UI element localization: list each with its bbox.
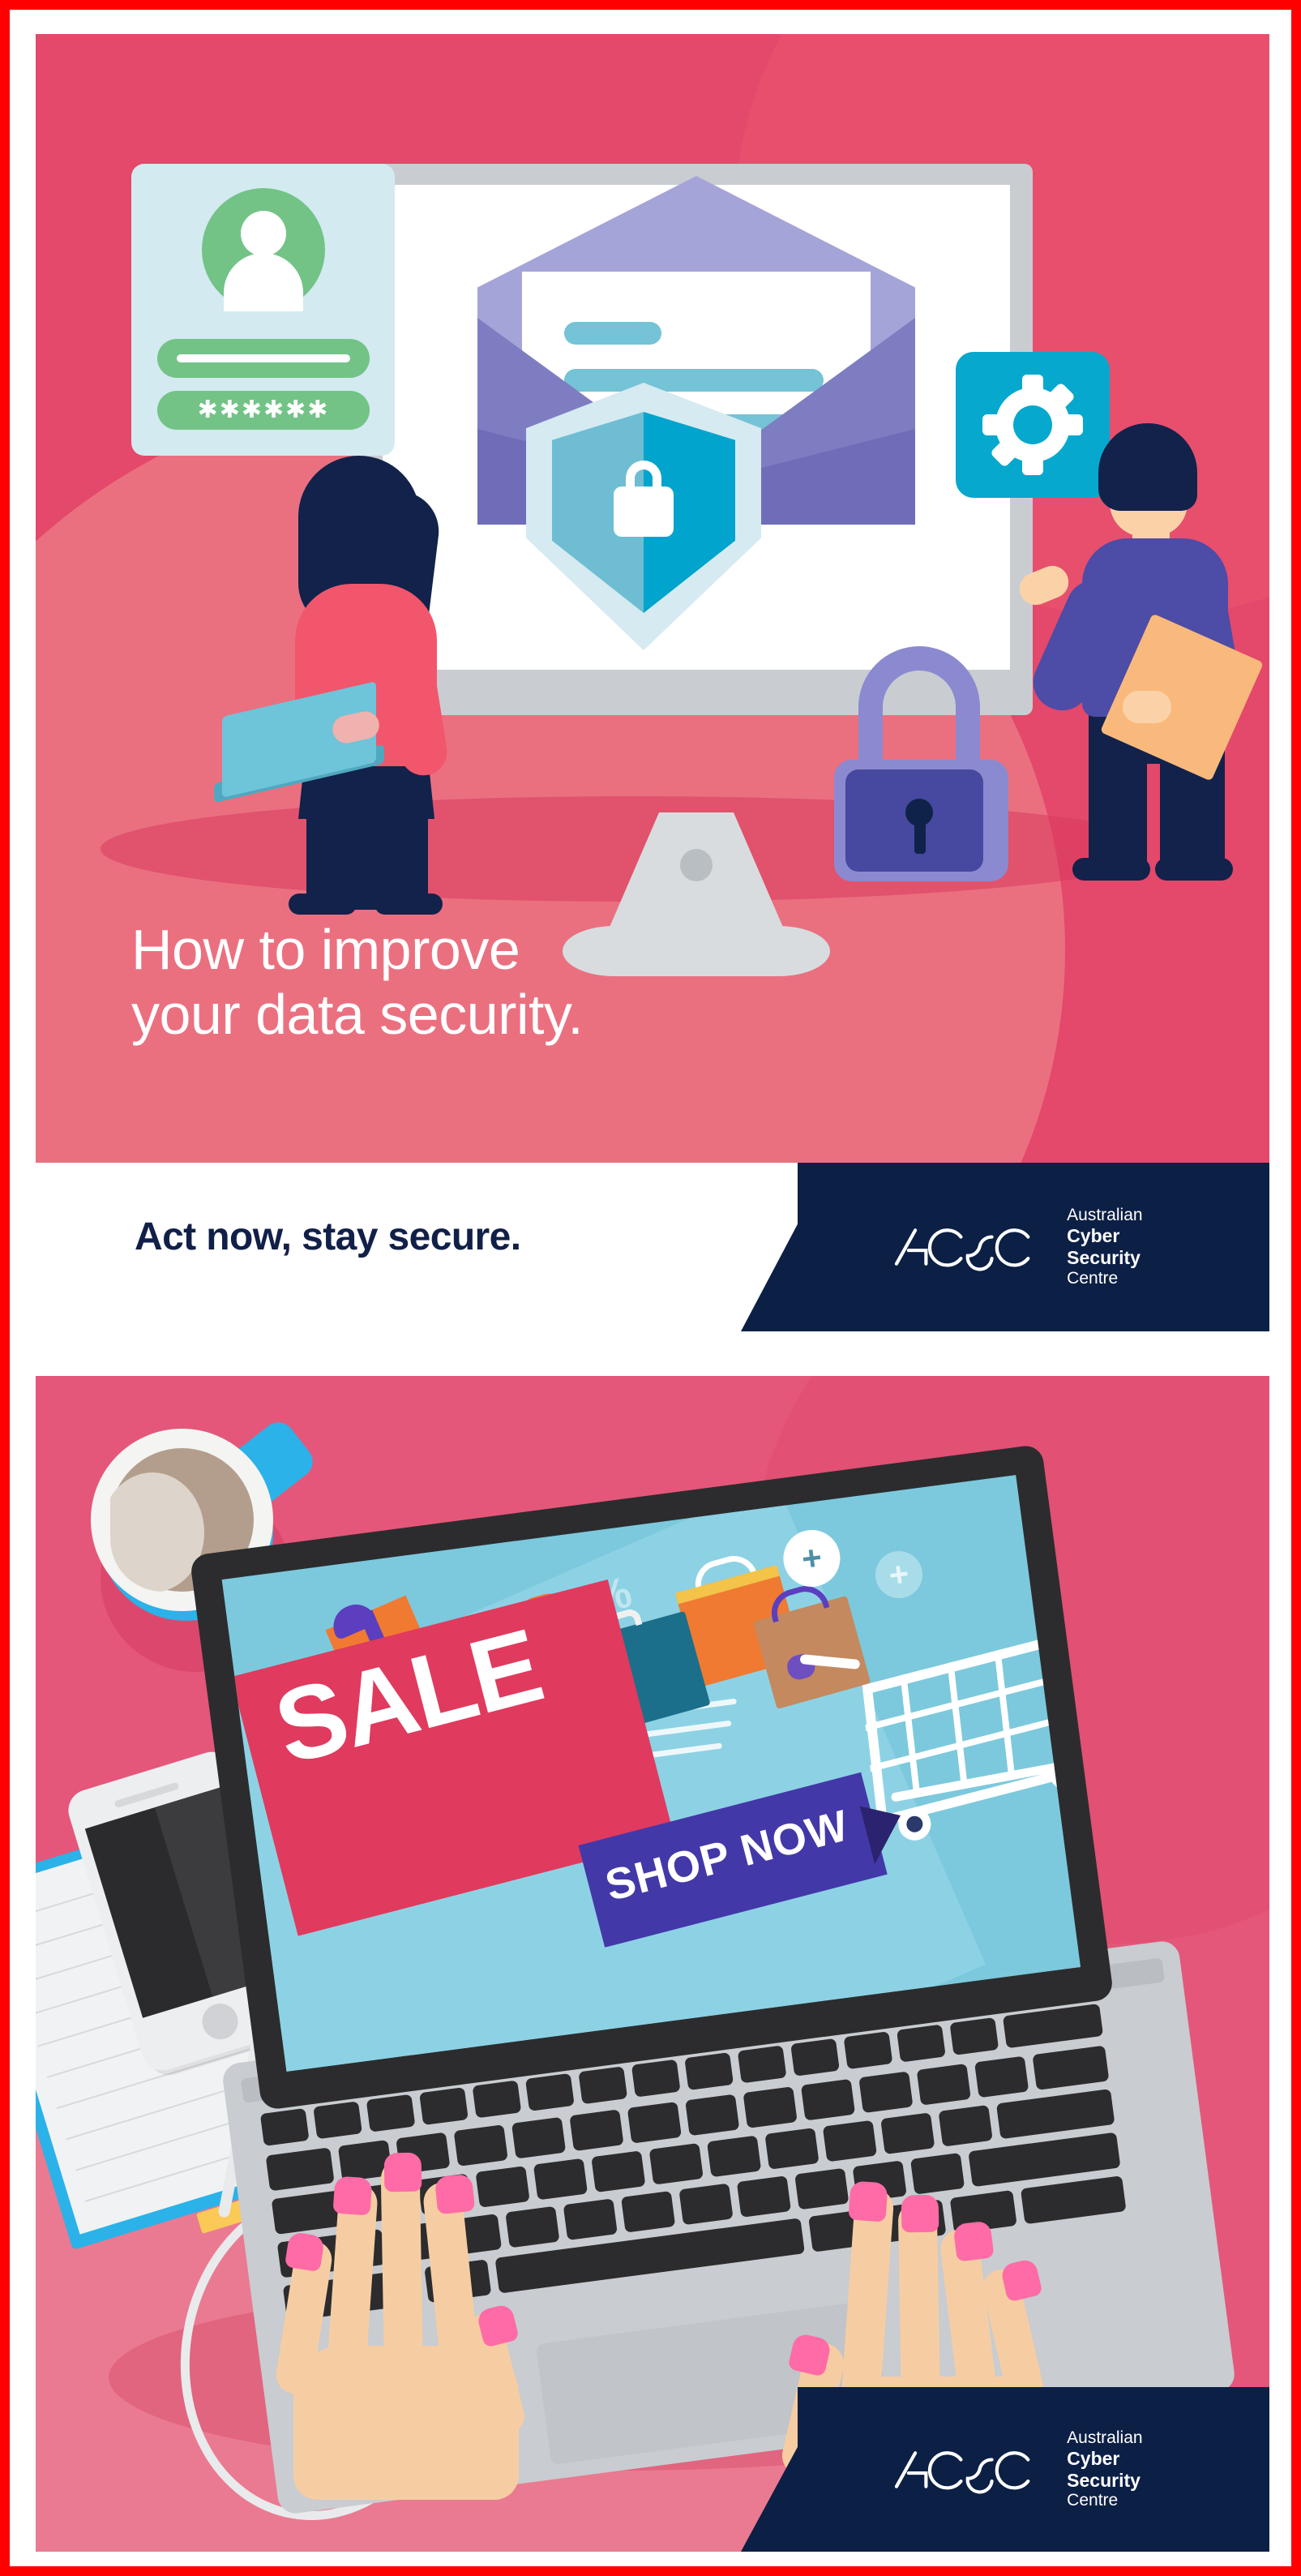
gear-hole: [1013, 405, 1052, 444]
panel-slant-edge: [741, 1163, 830, 1331]
tile-online-shopping[interactable]: % %: [36, 1376, 1269, 2552]
shield-lock-body: [614, 486, 674, 537]
shield-lock-icon: [526, 383, 761, 650]
avatar-head: [241, 211, 286, 256]
man-with-folder-figure: [1053, 423, 1256, 885]
tile1-illustration: ✱✱✱✱✱✱: [36, 34, 1269, 1163]
tile1-tagline-band: Act now, stay secure. Australian: [36, 1163, 1269, 1331]
user-avatar-icon: [202, 188, 325, 311]
left-hand: [271, 2146, 579, 2487]
acsc-logo-mark: [891, 1220, 1052, 1274]
acsc-line-3: Centre: [1067, 1269, 1176, 1288]
acsc-logo-mark: [891, 2443, 1052, 2497]
woman-shoe-right: [374, 894, 443, 915]
password-mask: ✱✱✱✱✱✱: [157, 391, 370, 430]
tile-data-security[interactable]: ✱✱✱✱✱✱: [36, 34, 1269, 1331]
padlock-shackle: [858, 646, 980, 776]
poster-page: ✱✱✱✱✱✱: [0, 0, 1301, 2576]
padlock-icon: [834, 646, 1008, 881]
tile-stack: ✱✱✱✱✱✱: [31, 34, 1271, 2552]
username-placeholder-line: [177, 354, 350, 362]
tile1-tagline: Act now, stay secure.: [135, 1215, 520, 1259]
woman-shoe-left: [289, 894, 357, 915]
acsc-line-2: Cyber Security: [1067, 2448, 1176, 2491]
acsc-line-3: Centre: [1067, 2491, 1176, 2510]
woman-with-laptop-figure: [271, 456, 481, 910]
laptop-lid: % %: [190, 1444, 1115, 2111]
acsc-line-2: Cyber Security: [1067, 1225, 1176, 1268]
acsc-line-1: Australian: [1067, 2428, 1176, 2447]
man-hair: [1098, 423, 1197, 511]
padlock-keyhole-stem: [914, 818, 926, 854]
login-card: ✱✱✱✱✱✱: [131, 164, 395, 456]
acsc-logo-panel-bottom[interactable]: Australian Cyber Security Centre: [798, 2387, 1269, 2552]
letter-line-1: [564, 322, 661, 345]
man-shoe-right: [1155, 858, 1233, 881]
monitor-power-dot: [680, 849, 713, 881]
laptop-screen: % %: [222, 1475, 1081, 2072]
tile1-headline: How to improve your data security.: [131, 918, 861, 1048]
acsc-logo-wordmark: Australian Cyber Security Centre: [1067, 1206, 1176, 1288]
laptop: % %: [222, 1498, 1252, 2454]
acsc-logo-wordmark: Australian Cyber Security Centre: [1067, 2428, 1176, 2510]
username-field: [157, 339, 370, 378]
acsc-line-1: Australian: [1067, 1206, 1176, 1225]
man-shoe-left: [1072, 858, 1150, 881]
acsc-logo-panel-top[interactable]: Australian Cyber Security Centre: [798, 1163, 1269, 1331]
man-hand-right: [1123, 691, 1171, 723]
password-field: ✱✱✱✱✱✱: [157, 391, 370, 430]
avatar-body: [224, 253, 303, 311]
